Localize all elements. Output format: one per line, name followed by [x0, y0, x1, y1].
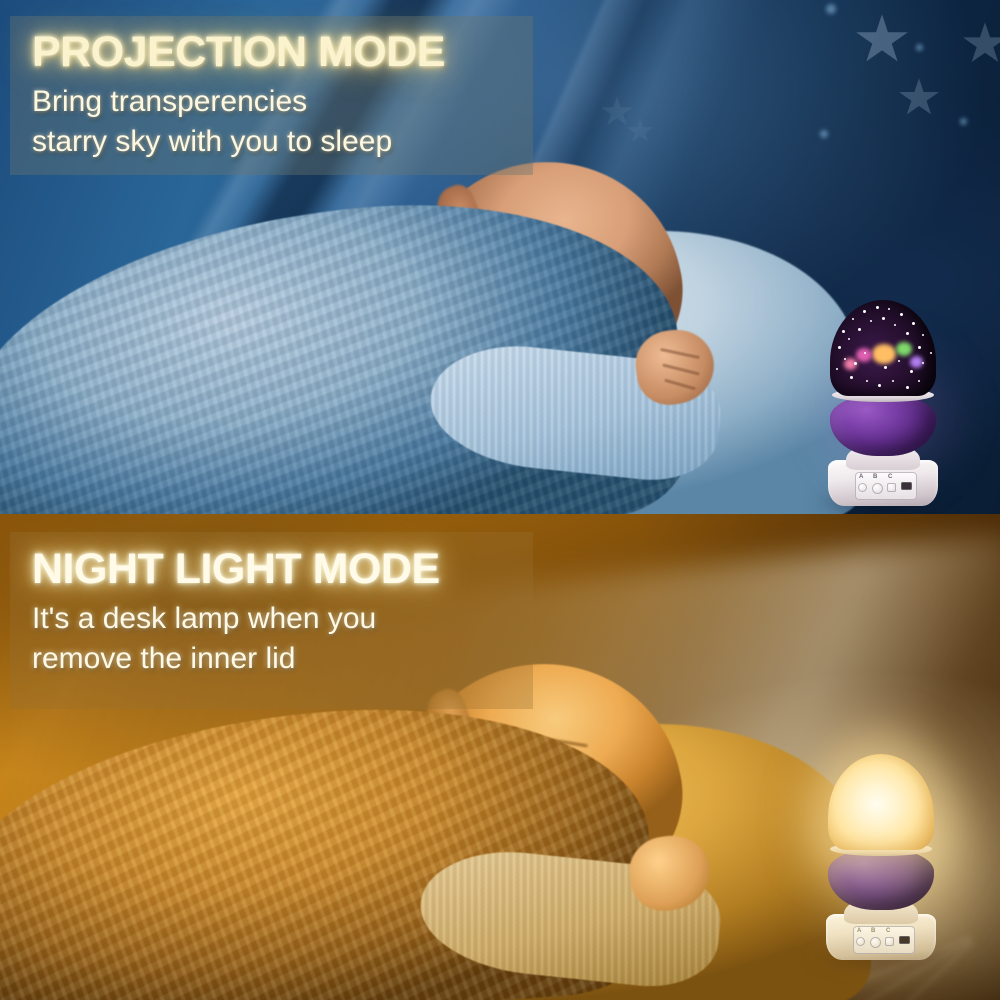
dome-pinhole — [848, 338, 850, 340]
night-light-mode-subtitle: It's a desk lamp when you remove the inn… — [32, 599, 533, 678]
dome-pinhole — [910, 370, 913, 373]
button-label-a: A — [859, 474, 863, 480]
dome-pinhole — [858, 328, 861, 331]
dome-pinhole — [878, 384, 881, 387]
dome-pinhole — [854, 362, 857, 365]
dome-pinhole — [842, 330, 845, 333]
dome-pinhole — [898, 360, 900, 362]
dome-pinhole — [882, 317, 885, 320]
button-c[interactable] — [885, 937, 894, 946]
button-label-b: B — [871, 928, 875, 934]
subtitle-line: starry sky with you to sleep — [32, 122, 533, 162]
dome-pinhole — [906, 332, 909, 335]
led-amber — [872, 344, 896, 364]
dome-pinhole — [892, 380, 894, 382]
dome-pinhole — [884, 366, 887, 369]
subtitle-line: Bring transperencies — [32, 82, 533, 122]
led-magenta — [856, 348, 872, 362]
dome-pinhole — [850, 376, 853, 379]
button-c[interactable] — [887, 483, 896, 492]
usb-port[interactable] — [901, 482, 912, 490]
panel-night-light-mode: A B C NIGHT LIGHT MODE It's a desk lamp … — [0, 514, 1000, 1000]
dome-pinhole — [864, 352, 866, 354]
dome-pinhole — [863, 310, 866, 313]
control-panel: A B C — [855, 472, 917, 500]
projected-sparkle-icon — [820, 130, 828, 138]
product-feature-image: A B C PROJECTION MODE Bring transperenci… — [0, 0, 1000, 1000]
dome-pinhole — [900, 313, 903, 316]
dome-pinhole — [866, 380, 868, 382]
button-label-c: C — [886, 928, 890, 934]
dome-pinhole — [870, 320, 872, 322]
button-a[interactable] — [858, 483, 867, 492]
panel-projection-mode: A B C PROJECTION MODE Bring transperenci… — [0, 0, 1000, 514]
dome-pinhole — [912, 322, 915, 325]
control-panel: A B C — [853, 926, 915, 954]
lamp-purple-band — [828, 848, 934, 910]
projected-sparkle-icon — [960, 118, 967, 125]
led-green — [896, 342, 912, 356]
projection-mode-text-panel: PROJECTION MODE Bring transperencies sta… — [10, 16, 533, 175]
dome-pinhole — [876, 306, 879, 309]
projected-sparkle-icon — [916, 44, 923, 51]
night-light-mode-text-panel: NIGHT LIGHT MODE It's a desk lamp when y… — [10, 532, 533, 709]
button-a[interactable] — [856, 937, 865, 946]
button-label-c: C — [888, 474, 892, 480]
subtitle-line: remove the inner lid — [32, 639, 533, 679]
dome-pinhole — [922, 362, 924, 364]
dome-pinhole — [852, 318, 854, 320]
dome-pinhole — [918, 346, 921, 349]
button-b[interactable] — [872, 483, 883, 494]
product-star-projector-projection-mode: A B C — [828, 328, 938, 506]
button-label-b: B — [873, 474, 877, 480]
dome-pinhole — [838, 346, 841, 349]
dome-pinhole — [894, 324, 896, 326]
dome-pinhole — [922, 334, 924, 336]
projection-mode-headline: PROJECTION MODE — [32, 31, 533, 74]
button-b[interactable] — [870, 937, 881, 948]
usb-port[interactable] — [899, 936, 910, 944]
dome-pinhole — [906, 386, 909, 389]
projected-sparkle-icon — [826, 4, 836, 14]
dome-pinhole — [844, 358, 846, 360]
button-label-a: A — [857, 928, 861, 934]
dome-pinhole — [918, 380, 920, 382]
lamp-purple-band — [830, 394, 936, 456]
dome-pinhole — [888, 308, 890, 310]
projection-mode-subtitle: Bring transperencies starry sky with you… — [32, 82, 533, 161]
dome-pinhole — [930, 352, 932, 354]
product-star-projector-night-light-mode: A B C — [826, 782, 936, 960]
subtitle-line: It's a desk lamp when you — [32, 599, 533, 639]
dome-pinhole — [836, 368, 838, 370]
night-light-mode-headline: NIGHT LIGHT MODE — [32, 548, 533, 591]
